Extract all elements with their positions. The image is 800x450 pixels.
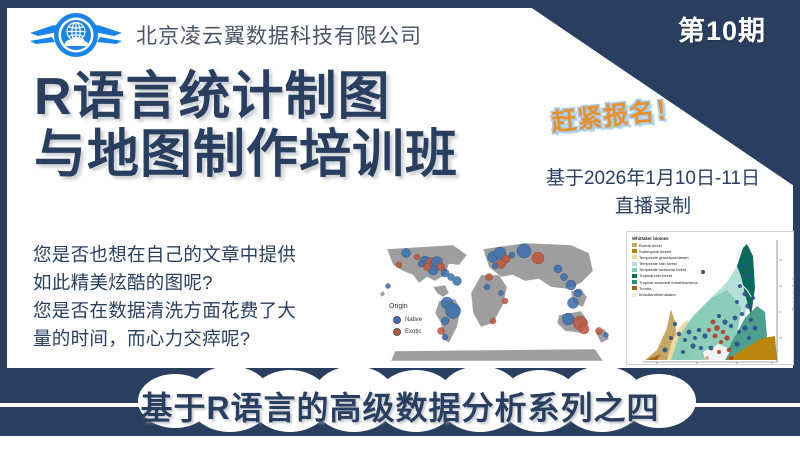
- legend-label: Tundra: [639, 286, 652, 291]
- whittaker-legend: Whittaker biomes Boreal forest Subtropic…: [632, 236, 698, 298]
- legend-label-exotic: Exotic: [405, 329, 421, 335]
- footer-banner-text: 基于R语言的高级数据分析系列之四: [0, 383, 800, 429]
- legend-label: Temperate seasonal forest: [639, 267, 686, 272]
- broadcast-date: 基于2026年1月10日-11日 直播录制: [528, 165, 778, 220]
- title-line-2: 与地图制作培训班: [34, 126, 458, 184]
- poster-canvas: 第10期: [0, 0, 800, 450]
- map-legend-item-exotic: Exotic: [393, 328, 421, 336]
- whittaker-legend-item: Tropical rain forest: [632, 273, 698, 278]
- legend-label: Temperate rain forest: [639, 261, 677, 266]
- whittaker-legend-item: Tundra: [632, 286, 698, 291]
- whittaker-legend-item: Temperate rain forest: [632, 261, 698, 266]
- legend-label: Tropical rain forest: [639, 273, 672, 278]
- legend-swatch: [632, 274, 637, 278]
- legend-swatch: [632, 262, 637, 266]
- legend-label: Tropical seasonal forest/savanna: [639, 280, 698, 285]
- winged-globe-logo-icon: [28, 10, 124, 60]
- legend-swatch: [632, 249, 637, 253]
- map-legend-title: Origin: [389, 303, 408, 310]
- whittaker-legend-title: Whittaker biomes: [632, 236, 698, 241]
- legend-swatch-native: [393, 316, 401, 324]
- whittaker-biomes-plot: Whittaker biomes Boreal forest Subtropic…: [626, 231, 794, 365]
- whittaker-legend-item: Tropical seasonal forest/savanna: [632, 280, 698, 285]
- legend-label: Boreal forest: [639, 243, 662, 248]
- body-copy-line: 您是否在数据清洗方面花费了大: [33, 297, 378, 325]
- whittaker-legend-item: Temperate grassland/desert: [632, 255, 698, 260]
- page-title: R语言统计制图 与地图制作培训班: [34, 68, 458, 184]
- company-name: 北京凌云翼数据科技有限公司: [136, 20, 422, 50]
- legend-swatch-exotic: [393, 328, 401, 336]
- issue-badge: 第10期: [678, 18, 766, 45]
- world-distribution-map: Origin Native Exotic: [375, 231, 620, 365]
- title-line-1: R语言统计制图: [34, 68, 458, 126]
- legend-swatch: [632, 293, 637, 297]
- legend-swatch: [632, 255, 637, 259]
- legend-label: Subtropical desert: [639, 249, 671, 254]
- legend-swatch: [632, 268, 637, 272]
- whittaker-y-axis-label: Precipitation (cm): [792, 278, 794, 311]
- legend-swatch: [632, 243, 637, 247]
- signup-slogan: 赶紧报名！: [549, 89, 682, 138]
- body-copy-line: 您是否也想在自己的文章中提供: [33, 241, 378, 269]
- figure-row: Origin Native Exotic: [375, 231, 795, 365]
- date-line-2: 直播录制: [528, 193, 778, 221]
- legend-swatch: [632, 286, 637, 290]
- whittaker-legend-item: Subtropical desert: [632, 249, 698, 254]
- map-legend-item-native: Native: [393, 316, 422, 324]
- legend-label-native: Native: [405, 317, 422, 323]
- body-copy-line: 量的时间，而心力交瘁呢?: [33, 325, 378, 353]
- body-copy-line: 如此精美炫酷的图呢?: [33, 269, 378, 297]
- whittaker-legend-item: Boreal forest: [632, 243, 698, 248]
- legend-label: Temperate grassland/desert: [639, 255, 689, 260]
- whittaker-legend-item: Woodland/shrubland: [632, 292, 698, 297]
- legend-swatch: [632, 280, 637, 284]
- whittaker-legend-item: Temperate seasonal forest: [632, 267, 698, 272]
- date-line-1: 基于2026年1月10日-11日: [528, 165, 778, 193]
- brand-bar: 北京凌云翼数据科技有限公司: [28, 10, 422, 60]
- body-copy: 您是否也想在自己的文章中提供 如此精美炫酷的图呢? 您是否在数据清洗方面花费了大…: [33, 241, 378, 353]
- frame-edge-bottom: [0, 436, 800, 450]
- legend-label: Woodland/shrubland: [639, 292, 676, 297]
